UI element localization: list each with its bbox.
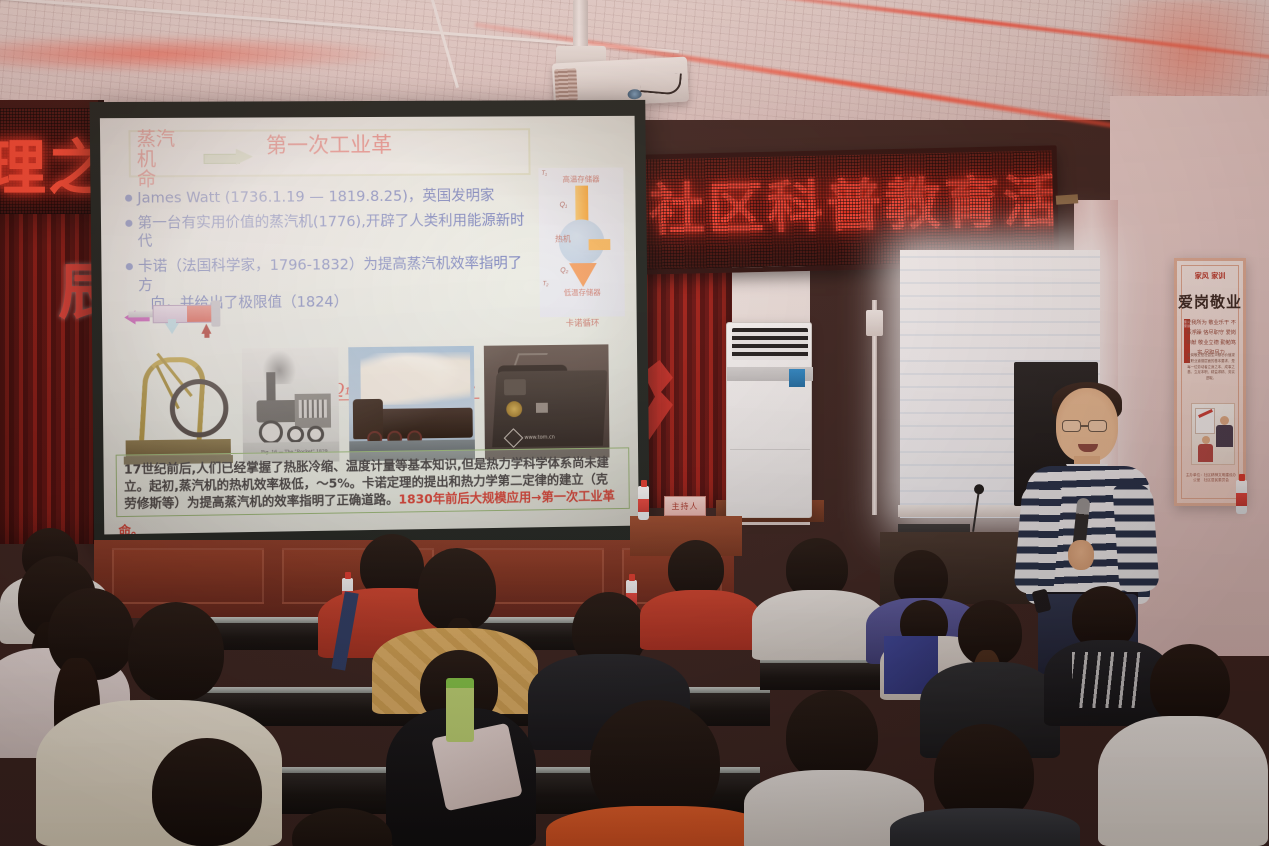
wall-poster: 家风 家训 爱岗敬业 家风家训 爱我所为 敬业乐干 不事浮躁 恪尽职守 爱岗奉献… <box>1174 258 1246 506</box>
projection-screen-frame: 蒸汽机 命 第一次工业革 James Watt (1736.1.19 — 181… <box>90 100 650 550</box>
list-item: James Watt (1736.1.19 — 1819.8.25)，英国发明家 <box>125 187 526 208</box>
audience-body <box>546 806 772 846</box>
loco-watermark-text: www.tom.cn <box>524 434 555 440</box>
water-bottle[interactable] <box>638 486 649 520</box>
host-name-card-text: 主持人 <box>672 501 699 512</box>
ac-seam <box>730 449 810 450</box>
bullet-dot-icon <box>125 195 132 202</box>
carnot-engine-label: 热机 <box>555 233 571 244</box>
piston-cap <box>211 300 220 326</box>
note-paragraph: 17世纪前后,人们已经掌握了热胀冷缩、温度计量等基本知识,但是热力学科学体系尚未… <box>124 453 622 512</box>
steam-plume <box>360 352 470 405</box>
poster-person-head <box>1220 416 1229 425</box>
bullet-dot-icon <box>126 263 133 270</box>
led-banner-bracket <box>1056 194 1079 205</box>
carnot-down-arrow-icon <box>569 263 597 287</box>
poster-brand: 家风 家训 <box>1177 271 1243 281</box>
loco-emblem-icon <box>506 401 522 417</box>
glasses-icon <box>1088 420 1107 432</box>
carnot-work-output <box>589 239 611 250</box>
loco-cab-window <box>504 379 526 395</box>
green-tea-bottle[interactable] <box>446 678 474 742</box>
engraving-tender-rails <box>299 400 327 418</box>
bullet-text: 第一台有实用价值的蒸汽机(1776),开辟了人类利用能源新时代 <box>137 212 526 251</box>
wall-junction-box <box>866 310 883 336</box>
slide-bullet-list: James Watt (1736.1.19 — 1819.8.25)，英国发明家… <box>125 187 527 313</box>
ac-energy-label <box>789 369 805 387</box>
audience-towel <box>431 723 523 812</box>
ceiling-red-glow-left <box>0 34 410 74</box>
tee-graphic-print <box>1072 652 1142 708</box>
projector-vent <box>554 68 578 101</box>
led-panel-left: 理之 <box>0 108 97 220</box>
carnot-q1-label: Q₁ <box>560 202 568 209</box>
carnot-q2-label: Q₂ <box>560 267 568 274</box>
slide-title-left: 蒸汽机 命 <box>137 130 192 190</box>
slide-title-box: 蒸汽机 命 第一次工业革 <box>128 128 530 177</box>
audience-body <box>1098 716 1268 846</box>
slide-image-row: Fig. 16 — The "Rocket" 1829. <box>112 328 633 467</box>
image-watt-beam-engine <box>123 343 233 465</box>
image-historic-locomotive: Fig. 16 — The "Rocket" 1829. <box>242 347 340 463</box>
engraving-wheel-a <box>287 426 304 443</box>
image-modern-locomotive: www.tom.cn <box>484 344 610 459</box>
air-conditioner[interactable] <box>726 322 812 518</box>
note-line-3: 劳修斯等）为提高蒸汽机的效率指明了正确道路。 <box>124 492 398 511</box>
lecture-hall-scene: 理之 辰 社区科普教育活动 家风 家训 爱岗敬业 家风家训 爱我所为 敬业乐干 … <box>0 0 1269 846</box>
carnot-cold-label: 低温存储器 <box>540 287 625 299</box>
slide-title-right: 第一次工业革 <box>266 129 393 160</box>
list-item: 第一台有实用价值的蒸汽机(1776),开辟了人类利用能源新时代 <box>125 212 526 251</box>
audience-head <box>152 738 262 846</box>
presenter-hand <box>1068 540 1094 570</box>
audience-head <box>1150 644 1230 726</box>
poster-illustration <box>1191 403 1235 465</box>
note-highlight: 1830年前后大规模应用→第一次工业革 <box>398 488 615 506</box>
presenter-right-arm <box>1112 483 1159 594</box>
stage-panel <box>112 548 264 604</box>
poster-footer: 主办单位：社区精神文明建设办公室 社区居民委员会 <box>1185 473 1237 483</box>
glasses-icon <box>1062 420 1081 432</box>
slide-title-left-line2: 命 <box>137 168 156 190</box>
host-name-card: 主持人 <box>664 496 706 516</box>
image-steam-train <box>348 346 475 461</box>
audience-body <box>890 808 1080 846</box>
bullet-text: James Watt (1736.1.19 — 1819.8.25)，英国发明家 <box>137 187 526 208</box>
bullet-text: 卡诺（法国科学家，1796-1832）为提高蒸汽机效率指明了方 <box>138 256 522 294</box>
slide-note-box: 17世纪前后,人们已经掌握了热胀冷缩、温度计量等基本知识,但是热力学科学体系尚未… <box>116 447 630 517</box>
audience-head <box>786 690 878 782</box>
piston-diagram <box>124 296 226 337</box>
presentation-slide: 蒸汽机 命 第一次工业革 James Watt (1736.1.19 — 181… <box>100 116 639 535</box>
led-left-text: 理之 <box>0 120 97 207</box>
carnot-hot-label: 高温存储器 <box>538 173 623 184</box>
note-tail-highlight: 命。 <box>118 521 143 535</box>
engraving-wheel-b <box>307 426 324 443</box>
led-banner-text: 社区科普教育活动 <box>648 155 1059 247</box>
loco-number-plate <box>536 403 548 413</box>
glasses-bridge <box>1081 425 1088 427</box>
poster-body-text: 爱岗敬业是社会主义核心价值观在职业道德层面的基本要求，是每一位劳动者立身之本、成… <box>1187 353 1235 382</box>
poster-person-body <box>1216 425 1233 447</box>
carnot-t1-label: T₁ <box>541 171 547 177</box>
projection-screen[interactable]: 蒸汽机 命 第一次工业革 James Watt (1736.1.19 — 181… <box>100 116 639 535</box>
poster-person2-body <box>1198 444 1213 462</box>
ac-vent-icon <box>732 328 808 360</box>
carnot-cycle-diagram: 高温存储器 T₁ 热机 Q₁ Q₂ T₂ 低温存储器 卡诺循环 <box>538 168 624 318</box>
audience-head <box>128 602 224 702</box>
projector-cable <box>640 70 682 95</box>
poster-title: 爱岗敬业 <box>1177 291 1243 312</box>
slide-title-left-line1: 蒸汽机 <box>137 128 176 170</box>
water-bottle[interactable] <box>1236 480 1247 514</box>
bullet-dot-icon <box>125 220 132 227</box>
poster-person2-head <box>1202 436 1210 444</box>
audience-body <box>640 590 760 650</box>
carnot-caption: 卡诺循环 <box>540 316 625 329</box>
right-arrow-icon <box>203 150 256 165</box>
